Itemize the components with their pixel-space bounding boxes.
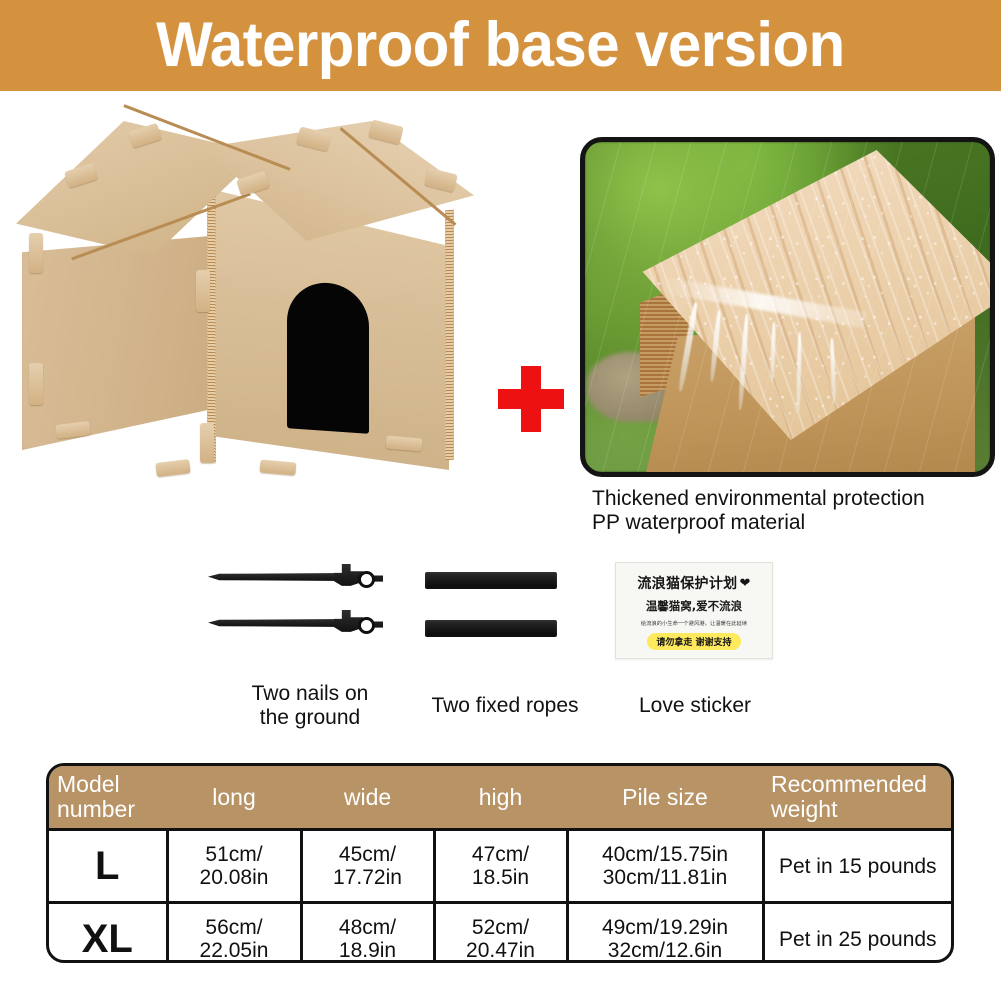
spec-table-body: L 51cm/ 20.08in 45cm/ 17.72in 47cm/ 18.5…	[49, 830, 951, 964]
cell-wide-l: 45cm/ 17.72in	[301, 830, 434, 903]
love-sticker-icon: 流浪猫保护计划 ❤ 温馨猫窝,爱不流浪 给流浪的小生命一个避风港，让温暖在此延续…	[615, 562, 773, 659]
cell-wide-l-line2: 17.72in	[304, 866, 432, 889]
cell-long-l-line2: 20.08in	[170, 866, 299, 889]
fixed-rope-icon	[425, 620, 557, 637]
waterproof-caption-line2: PP waterproof material	[592, 511, 992, 535]
house-side-tab	[29, 363, 43, 405]
accessory-label-sticker: Love sticker	[605, 694, 785, 718]
cell-pile-xl: 49cm/19.29in 32cm/12.6in	[567, 903, 763, 964]
plus-vertical-bar	[521, 366, 541, 432]
cat-house-illustration	[8, 105, 488, 525]
cell-high-xl: 52cm/ 20.47in	[434, 903, 567, 964]
column-header-long: long	[167, 766, 301, 830]
column-header-model: Model number	[49, 766, 167, 830]
house-side-tab	[200, 423, 214, 463]
cell-long-l-line1: 51cm/	[170, 843, 299, 866]
spec-table-header-row: Model number long wide high Pile size Re…	[49, 766, 951, 830]
house-entrance-hole	[287, 280, 369, 434]
cell-pile-l-line2: 30cm/11.81in	[570, 866, 761, 889]
waterproof-demo-photo	[580, 137, 995, 477]
cell-weight-l: Pet in 15 pounds	[763, 830, 951, 903]
column-header-high: high	[434, 766, 567, 830]
cell-long-xl: 56cm/ 22.05in	[167, 903, 301, 964]
cell-high-l-line1: 47cm/	[437, 843, 565, 866]
column-header-model-line1: Model	[57, 772, 159, 797]
accessory-label-ropes: Two fixed ropes	[400, 694, 610, 718]
sticker-title: 流浪猫保护计划	[637, 573, 737, 593]
heart-icon: ❤	[739, 576, 750, 591]
waterproof-caption: Thickened environmental protection PP wa…	[592, 487, 992, 535]
cell-wide-l-line1: 45cm/	[304, 843, 432, 866]
nail-shaft	[208, 573, 348, 581]
cell-model-xl: XL	[49, 903, 167, 964]
sticker-small-text: 给流浪的小生命一个避风港，让温暖在此延续	[641, 619, 747, 627]
cell-model-l: L	[49, 830, 167, 903]
accessory-label-nails-line2: the ground	[230, 706, 390, 730]
house-left-wall	[22, 235, 222, 450]
cell-pile-xl-line1: 49cm/19.29in	[570, 916, 761, 939]
ground-nail-icon	[208, 610, 383, 636]
spec-table: Model number long wide high Pile size Re…	[49, 766, 951, 963]
cell-long-l: 51cm/ 20.08in	[167, 830, 301, 903]
ground-nails-group	[208, 564, 398, 644]
nail-shaft	[208, 619, 348, 627]
accessory-label-sticker-line1: Love sticker	[605, 694, 785, 718]
cell-pile-l: 40cm/15.75in 30cm/11.81in	[567, 830, 763, 903]
cell-wide-xl: 48cm/ 18.9in	[301, 903, 434, 964]
page-header-banner: Waterproof base version	[0, 0, 1001, 91]
sticker-badge: 请勿拿走 谢谢支持	[647, 633, 740, 650]
nail-ring-hole	[358, 571, 375, 588]
specification-table: Model number long wide high Pile size Re…	[46, 763, 954, 963]
table-row: XL 56cm/ 22.05in 48cm/ 18.9in 52cm/ 20.4…	[49, 903, 951, 964]
column-header-wide: wide	[301, 766, 434, 830]
accessory-label-ropes-line1: Two fixed ropes	[400, 694, 610, 718]
spec-table-head: Model number long wide high Pile size Re…	[49, 766, 951, 830]
nail-ring-hole	[358, 617, 375, 634]
accessories-section: 流浪猫保护计划 ❤ 温馨猫窝,爱不流浪 给流浪的小生命一个避风港，让温暖在此延续…	[0, 552, 1001, 737]
waterproof-caption-line1: Thickened environmental protection	[592, 487, 992, 511]
cell-pile-xl-line2: 32cm/12.6in	[570, 939, 761, 962]
house-bottom-tab	[260, 459, 297, 475]
column-header-rec-line1: Recommended	[771, 772, 943, 797]
cell-wide-xl-line1: 48cm/	[304, 916, 432, 939]
column-header-model-line2: number	[57, 797, 159, 822]
cell-wide-xl-line2: 18.9in	[304, 939, 432, 962]
cell-weight-xl: Pet in 25 pounds	[763, 903, 951, 964]
cell-high-l: 47cm/ 18.5in	[434, 830, 567, 903]
house-side-tab	[196, 270, 210, 312]
cell-long-xl-line1: 56cm/	[170, 916, 299, 939]
column-header-rec-line2: weight	[771, 797, 943, 822]
table-row: L 51cm/ 20.08in 45cm/ 17.72in 47cm/ 18.5…	[49, 830, 951, 903]
column-header-pile-size: Pile size	[567, 766, 763, 830]
sticker-title-row: 流浪猫保护计划 ❤	[637, 573, 750, 593]
cell-long-xl-line2: 22.05in	[170, 939, 299, 962]
accessory-label-nails-line1: Two nails on	[230, 682, 390, 706]
page-title: Waterproof base version	[156, 14, 845, 77]
house-side-tab	[29, 233, 43, 273]
accessory-label-nails: Two nails on the ground	[230, 682, 390, 730]
cell-high-xl-line2: 20.47in	[437, 939, 565, 962]
ground-nail-icon	[208, 564, 383, 590]
cell-high-l-line2: 18.5in	[437, 866, 565, 889]
plus-symbol-icon	[498, 366, 564, 432]
cat-house-product-image	[8, 105, 488, 525]
sticker-subtitle: 温馨猫窝,爱不流浪	[646, 598, 742, 614]
cell-pile-l-line1: 40cm/15.75in	[570, 843, 761, 866]
photo-rain-streaks	[585, 142, 990, 472]
cell-high-xl-line1: 52cm/	[437, 916, 565, 939]
column-header-recommended-weight: Recommended weight	[763, 766, 951, 830]
house-bottom-tab	[155, 459, 190, 477]
fixed-rope-icon	[425, 572, 557, 589]
fixed-ropes-group	[425, 572, 585, 644]
hero-section: Thickened environmental protection PP wa…	[0, 91, 1001, 541]
house-corrugated-edge-right	[445, 210, 454, 461]
